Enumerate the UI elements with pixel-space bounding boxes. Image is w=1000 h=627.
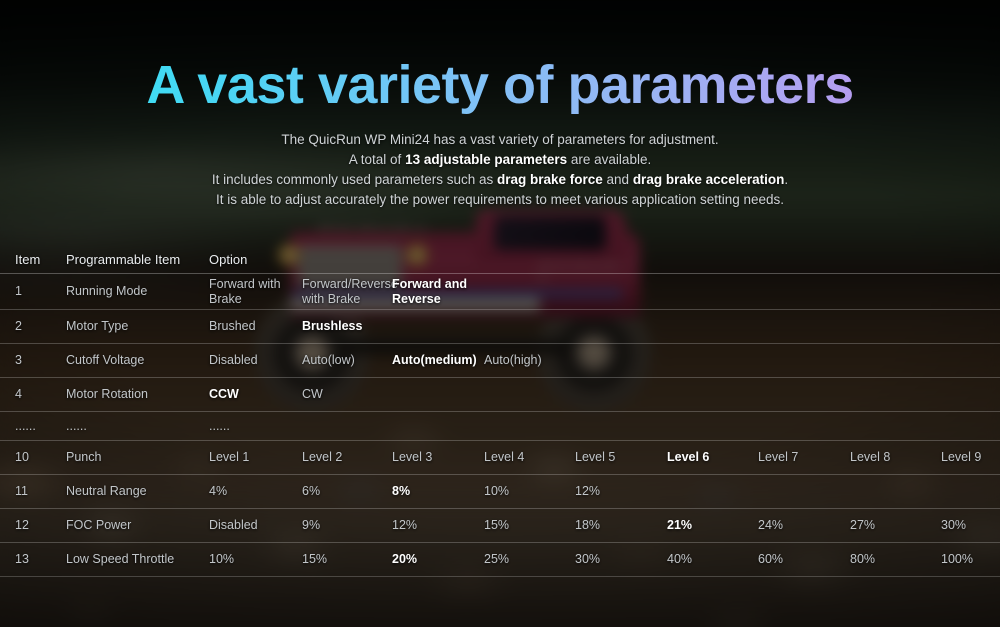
row-item-number: 3 [15, 344, 63, 377]
row-option[interactable]: 24% [758, 509, 846, 542]
row-option[interactable]: 25% [484, 543, 572, 576]
row-option[interactable]: Level 1 [209, 441, 299, 474]
row-programmable-item: Punch [66, 441, 204, 474]
row-option[interactable]: Level 3 [392, 441, 482, 474]
row-programmable-item: Low Speed Throttle [66, 543, 204, 576]
row-option-selected[interactable]: 20% [392, 543, 482, 576]
row-option[interactable]: Auto(high) [484, 344, 572, 377]
row-programmable-item: FOC Power [66, 509, 204, 542]
row-option[interactable]: 12% [392, 509, 482, 542]
hero-line-2-post: are available. [567, 152, 651, 167]
hero-line-1: The QuicRun WP Mini24 has a vast variety… [0, 130, 1000, 150]
row-item-number: 11 [15, 475, 63, 508]
row-option-selected[interactable]: Level 6 [667, 441, 755, 474]
row-item-number: 12 [15, 509, 63, 542]
row-option[interactable]: Level 5 [575, 441, 663, 474]
row-option[interactable]: 18% [575, 509, 663, 542]
row-option[interactable]: Level 7 [758, 441, 846, 474]
hero-line-3-pre: It includes commonly used parameters suc… [212, 172, 497, 187]
hero-line-3-post: . [784, 172, 788, 187]
row-option[interactable]: 80% [850, 543, 938, 576]
row-option[interactable]: Disabled [209, 344, 299, 377]
row-option-selected[interactable]: 8% [392, 475, 482, 508]
row-item-number: 10 [15, 441, 63, 474]
row-programmable-item: Motor Rotation [66, 378, 204, 411]
row-option-selected[interactable]: Forward and Reverse [392, 274, 482, 309]
table-row: 11Neutral Range4%6%8%10%12% [0, 475, 1000, 509]
row-option[interactable]: Level 4 [484, 441, 572, 474]
parameters-table: Item Programmable Item Option 1Running M… [0, 246, 1000, 577]
hero-line-2-bold: 13 adjustable parameters [405, 152, 567, 167]
table-row: 2Motor TypeBrushedBrushless [0, 310, 1000, 344]
hero-line-2-pre: A total of [349, 152, 405, 167]
row-option[interactable]: 10% [484, 475, 572, 508]
row-option-selected[interactable]: CCW [209, 378, 299, 411]
row-item-number: 2 [15, 310, 63, 343]
hero-line-4: It is able to adjust accurately the powe… [0, 190, 1000, 210]
row-option[interactable]: Forward with Brake [209, 274, 299, 309]
row-programmable-item: ...... [66, 412, 204, 440]
row-option[interactable]: ...... [209, 412, 299, 440]
row-programmable-item: Neutral Range [66, 475, 204, 508]
table-row: 1Running ModeForward with BrakeForward/R… [0, 274, 1000, 310]
hero-line-3-bold-2: drag brake acceleration [633, 172, 785, 187]
header-option: Option [209, 246, 299, 273]
row-option[interactable]: Disabled [209, 509, 299, 542]
row-programmable-item: Running Mode [66, 274, 204, 309]
row-programmable-item: Cutoff Voltage [66, 344, 204, 377]
row-item-number: 13 [15, 543, 63, 576]
hero-line-3: It includes commonly used parameters suc… [0, 170, 1000, 190]
row-option[interactable]: Brushed [209, 310, 299, 343]
hero-description: The QuicRun WP Mini24 has a vast variety… [0, 130, 1000, 210]
row-item-number: 4 [15, 378, 63, 411]
header-item: Item [15, 246, 63, 273]
table-header-row: Item Programmable Item Option [0, 246, 1000, 274]
row-option[interactable]: 27% [850, 509, 938, 542]
row-option[interactable]: Forward/Reverse with Brake [302, 274, 390, 309]
row-option[interactable]: 10% [209, 543, 299, 576]
row-option[interactable]: 15% [484, 509, 572, 542]
row-option[interactable]: Level 2 [302, 441, 390, 474]
row-item-number: ...... [15, 412, 63, 440]
hero-line-3-mid: and [603, 172, 633, 187]
row-option[interactable]: 30% [575, 543, 663, 576]
hero-line-3-bold-1: drag brake force [497, 172, 603, 187]
row-option[interactable]: 60% [758, 543, 846, 576]
table-row: 4Motor RotationCCWCW [0, 378, 1000, 412]
row-option-selected[interactable]: 21% [667, 509, 755, 542]
row-option[interactable]: 100% [941, 543, 1000, 576]
row-option[interactable]: Auto(low) [302, 344, 390, 377]
row-option[interactable]: 6% [302, 475, 390, 508]
row-option[interactable]: CW [302, 378, 390, 411]
row-option[interactable]: Level 9 [941, 441, 1000, 474]
row-programmable-item: Motor Type [66, 310, 204, 343]
row-option[interactable]: 15% [302, 543, 390, 576]
row-option-selected[interactable]: Auto(medium) [392, 344, 482, 377]
table-row: 12FOC PowerDisabled9%12%15%18%21%24%27%3… [0, 509, 1000, 543]
table-row: 10PunchLevel 1Level 2Level 3Level 4Level… [0, 441, 1000, 475]
hero-line-2: A total of 13 adjustable parameters are … [0, 150, 1000, 170]
row-option[interactable]: 30% [941, 509, 1000, 542]
table-row: 3Cutoff VoltageDisabledAuto(low)Auto(med… [0, 344, 1000, 378]
row-option-selected[interactable]: Brushless [302, 310, 390, 343]
row-option[interactable]: 9% [302, 509, 390, 542]
row-option[interactable]: 40% [667, 543, 755, 576]
page-title: A vast variety of parameters [0, 54, 1000, 116]
row-option[interactable]: 12% [575, 475, 663, 508]
table-row: 13Low Speed Throttle10%15%20%25%30%40%60… [0, 543, 1000, 577]
header-name: Programmable Item [66, 246, 204, 273]
row-item-number: 1 [15, 274, 63, 309]
row-option[interactable]: 4% [209, 475, 299, 508]
table-row: .................. [0, 412, 1000, 441]
row-option[interactable]: Level 8 [850, 441, 938, 474]
